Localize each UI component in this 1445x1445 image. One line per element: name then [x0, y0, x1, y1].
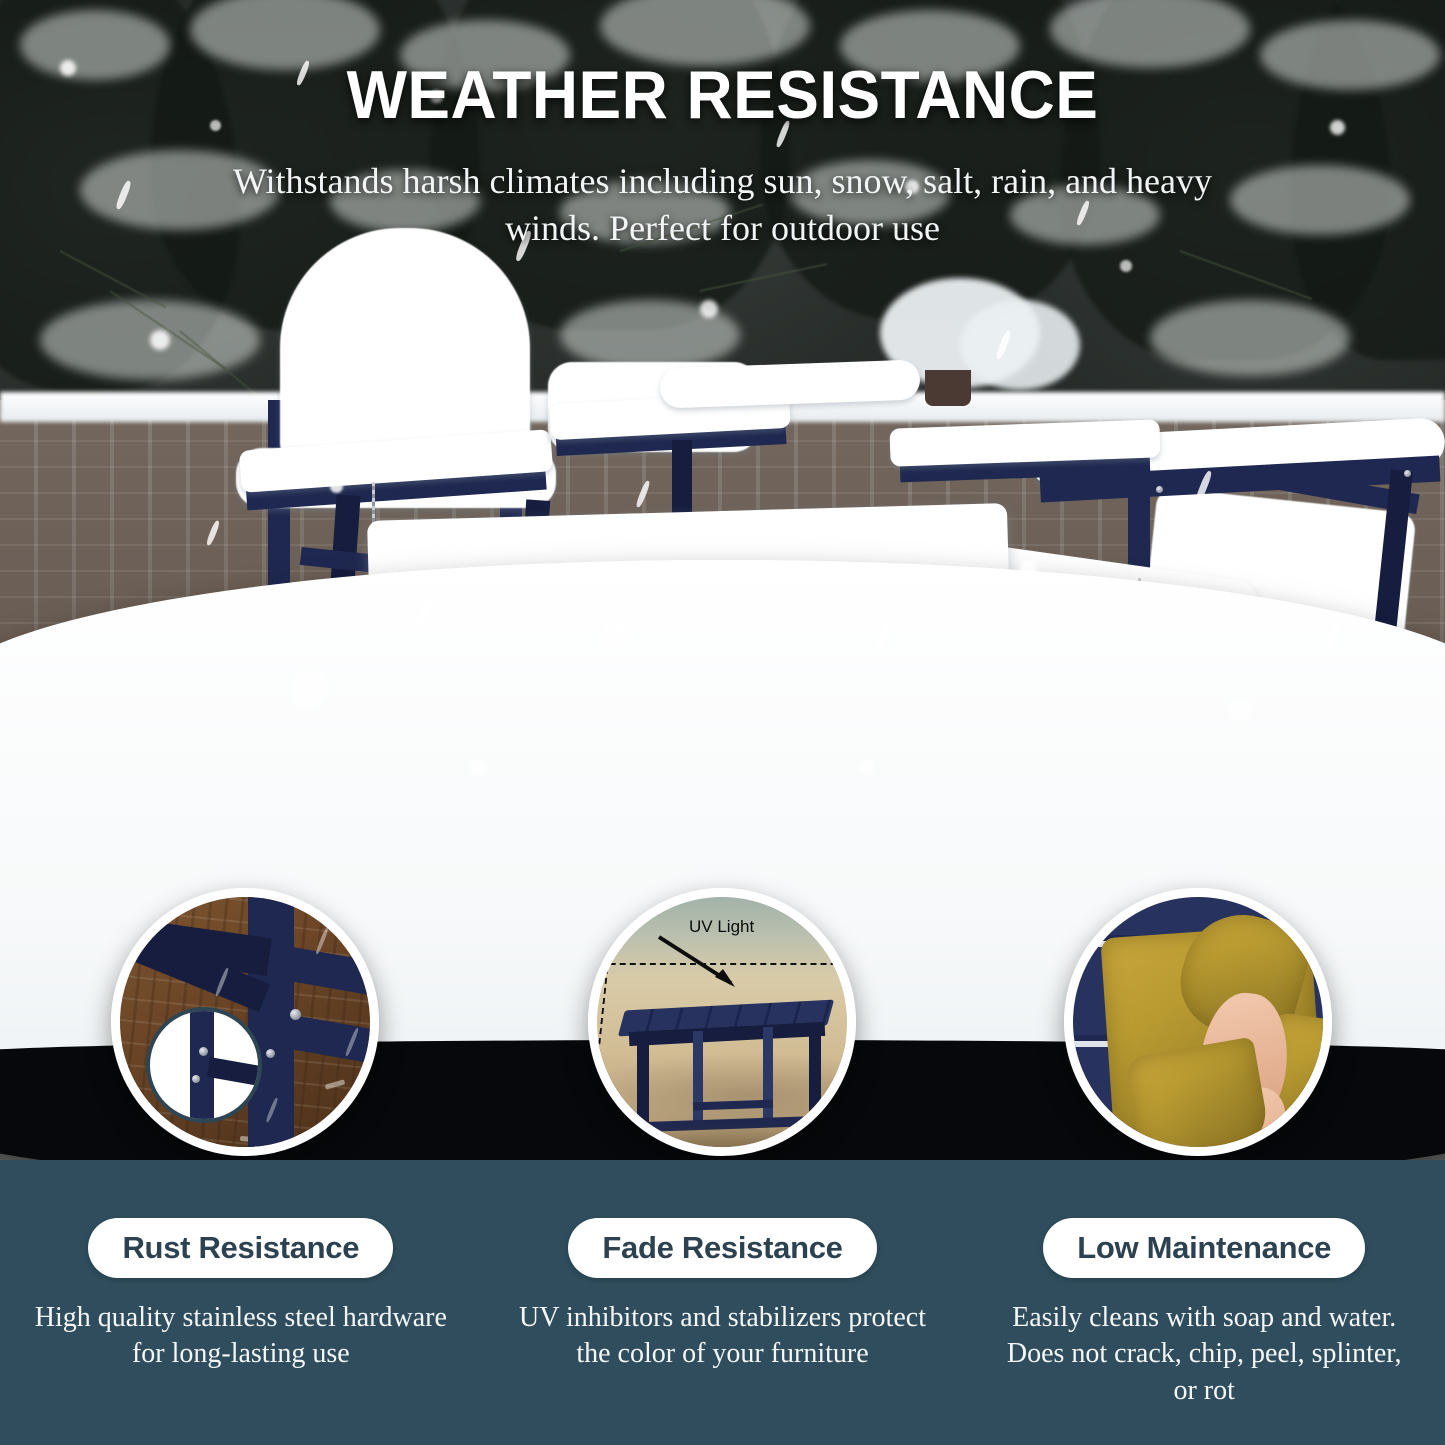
inset-horizontal-rail	[207, 1057, 262, 1089]
badge-rust-resistance[interactable]: Rust Resistance	[88, 1218, 393, 1278]
microfiber-cloth-lower	[1124, 1037, 1271, 1156]
badge-fade-resistance[interactable]: Fade Resistance	[568, 1218, 876, 1278]
snowflake	[330, 480, 343, 493]
uv-light-arrow	[653, 931, 763, 1001]
snowflake	[1120, 260, 1132, 272]
feature-column-low-maintenance: Low Maintenance Easily cleans with soap …	[963, 1160, 1445, 1445]
description-rust-resistance: High quality stainless steel hardware fo…	[34, 1300, 448, 1373]
chair-right-screw	[1404, 470, 1411, 477]
features-footer: Rust Resistance High quality stainless s…	[0, 1160, 1445, 1445]
plant-pot	[925, 370, 971, 406]
snowflake	[700, 300, 718, 318]
feature-image-fade-resistance: UV Light	[588, 888, 856, 1156]
snow-on-branch	[1150, 300, 1350, 376]
snowy-potted-plant	[960, 300, 1080, 390]
feature-column-rust-resistance: Rust Resistance High quality stainless s…	[0, 1160, 482, 1445]
snow-on-branch	[1230, 165, 1410, 235]
product-feature-infographic: WEATHER RESISTANCE Withstands harsh clim…	[0, 0, 1445, 1445]
feature-image-rust-resistance	[111, 888, 379, 1156]
uv-table-leg	[693, 1031, 703, 1127]
inset-stainless-screw	[199, 1047, 208, 1056]
snowflake	[292, 672, 326, 706]
page-subtitle: Withstands harsh climates including sun,…	[190, 158, 1255, 252]
chair-right-screw	[1156, 486, 1163, 493]
zoom-inset-circle	[146, 1007, 262, 1123]
snowflake	[600, 620, 626, 646]
page-title: WEATHER RESISTANCE	[43, 56, 1401, 134]
snowflake	[470, 760, 486, 776]
snowflake	[1390, 420, 1405, 435]
snowflake	[1230, 700, 1250, 720]
snowflake	[150, 330, 170, 350]
stainless-screw	[266, 1049, 275, 1058]
description-low-maintenance: Easily cleans with soap and water. Does …	[997, 1300, 1411, 1409]
inset-stainless-screw	[192, 1075, 200, 1083]
description-fade-resistance: UV inhibitors and stabilizers protect th…	[515, 1300, 929, 1373]
stainless-screw	[290, 1009, 301, 1020]
feature-image-low-maintenance	[1064, 888, 1332, 1156]
uv-light-label: UV Light	[689, 917, 754, 937]
snowflake	[860, 760, 874, 774]
chair-left-snow-backrest	[280, 228, 530, 458]
feature-column-fade-resistance: Fade Resistance UV inhibitors and stabil…	[482, 1160, 964, 1445]
badge-low-maintenance[interactable]: Low Maintenance	[1043, 1218, 1365, 1278]
snowflake	[1020, 560, 1037, 577]
